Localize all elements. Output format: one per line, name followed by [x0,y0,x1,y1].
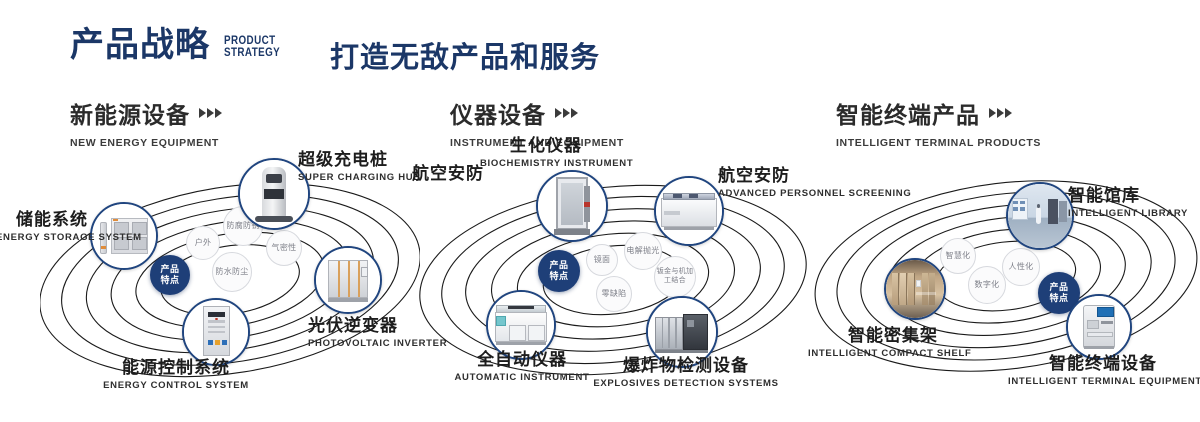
section-title-cn: 智能终端产品 [836,96,980,130]
cluster-instrument: 产品 特点 镜面 电解抛光 钣金与机加工结合 零缺陷 生化仪器 BIOCHEMI… [418,150,808,400]
node-biochemistry-instrument[interactable] [536,170,608,242]
scanner-photo [656,178,722,244]
feature-bubble-airtight: 气密性 [266,230,302,266]
page-title-english: PRODUCT STRATEGY [224,34,280,62]
label-automatic-instrument: 全自动仪器 AUTOMATIC INSTRUMENT [432,350,612,383]
feature-bubble-intelligent: 智慧化 [940,238,976,274]
label-energy-control-system: 能源控制系统 ENERGY CONTROL SYSTEM [86,358,266,391]
node-label-cn: 全自动仪器 [432,350,612,370]
terminal-kiosk-photo [1068,296,1130,358]
node-label-en: EXPLOSIVES DETECTION SYSTEMS [588,378,784,390]
inverter-photo [316,248,380,312]
section-title-new-energy: 新能源设备 NEW ENERGY EQUIPMENT [70,96,222,149]
page-title-english-line2: STRATEGY [224,46,280,59]
node-label-en: INTELLIGENT COMPACT SHELF [808,348,938,360]
core-bubble-product-features: 产品 特点 [538,250,580,292]
node-label-en: INTELLIGENT LIBRARY [1068,208,1198,220]
feature-bubble-outdoor: 户外 [186,226,220,260]
node-label-en: AUTOMATIC INSTRUMENT [432,372,612,384]
node-label-en: INTELLIGENT TERMINAL EQUIPMENT [1008,376,1198,388]
node-label-cn: 储能系统 [0,210,88,230]
section-title-cn: 新能源设备 [70,96,190,130]
core-bubble-line2: 特点 [160,275,179,286]
label-intelligent-compact-shelf: 智能密集架 INTELLIGENT COMPACT SHELF [808,326,938,359]
node-advanced-personnel-screening[interactable] [654,176,724,246]
chevron-right-icon [555,108,578,118]
feature-bubble-zero-defect: 零缺陷 [596,276,632,312]
feature-bubble-waterproof: 防水防尘 [212,252,252,292]
node-label-cn: 智能馆库 [1068,186,1198,206]
node-label-cn: 智能密集架 [808,326,938,346]
page-title: 产品战略 [70,28,210,62]
page-subtitle: 打造无敌产品和服务 [330,34,600,76]
library-room-photo [1008,184,1072,248]
section-title-intelligent-terminal: 智能终端产品 INTELLIGENT TERMINAL PRODUCTS [836,96,1041,149]
node-photovoltaic-inverter[interactable] [314,246,382,314]
feature-bubble-digital: 数字化 [968,266,1006,304]
node-label-cn: 能源控制系统 [86,358,266,378]
feature-bubble-humanized: 人性化 [1002,248,1040,286]
label-biochemistry-instrument: 生化仪器 BIOCHEMISTRY INSTRUMENT [480,136,612,169]
core-bubble-line1: 产品 [1049,282,1068,293]
core-bubble-line1: 产品 [160,264,179,275]
section-title-en: INTELLIGENT TERMINAL PRODUCTS [836,137,1041,149]
node-intelligent-library[interactable] [1006,182,1074,250]
section-title-en: NEW ENERGY EQUIPMENT [70,137,222,149]
label-aviation-security-aside: 航空安防 [396,164,484,184]
label-explosives-detection-systems: 爆炸物检测设备 EXPLOSIVES DETECTION SYSTEMS [588,356,784,389]
node-label-en: ENERGY STORAGE SYSTEM [0,232,88,244]
node-intelligent-compact-shelf[interactable] [884,258,946,320]
feature-bubble-sheetmetal-machining: 钣金与机加工结合 [654,256,696,298]
core-bubble-line2: 特点 [1049,293,1068,304]
product-strategy-infographic: 产品战略 PRODUCT STRATEGY 打造无敌产品和服务 新能源设备 NE… [0,0,1200,422]
chevron-right-icon [989,108,1012,118]
security-gate-photo [538,172,606,240]
feature-bubble-mirror-finish: 镜面 [586,244,618,276]
node-label-en: BIOCHEMISTRY INSTRUMENT [480,158,612,170]
core-bubble-product-features: 产品 特点 [150,255,190,295]
node-label-cn: 智能终端设备 [1008,354,1198,374]
node-label-cn: 爆炸物检测设备 [588,356,784,376]
page-title-english-line1: PRODUCT [224,34,280,47]
label-intelligent-library: 智能馆库 INTELLIGENT LIBRARY [1068,186,1198,219]
compact-shelf-photo [886,260,944,318]
control-cabinet-photo [184,300,248,364]
page-header: 产品战略 PRODUCT STRATEGY [70,28,292,62]
node-energy-control-system[interactable] [182,298,250,366]
cluster-new-energy: 产品 特点 户外 防腐防锈 防水防尘 气密性 储能系统 ENERGY STORA… [40,150,420,400]
section-title-cn: 仪器设备 [450,96,546,130]
chevron-right-icon [199,108,222,118]
aside-label-cn: 航空安防 [396,164,484,184]
core-bubble-line2: 特点 [549,271,568,282]
node-label-cn: 生化仪器 [480,136,612,156]
node-intelligent-terminal-equipment[interactable] [1066,294,1132,360]
cluster-intelligent-terminal: 智慧化 数字化 人性化 产品 特点 智能馆库 INTELLIGENT LIBRA… [812,150,1200,400]
label-intelligent-terminal-equipment: 智能终端设备 INTELLIGENT TERMINAL EQUIPMENT [1008,354,1198,387]
node-label-en: ENERGY CONTROL SYSTEM [86,380,266,392]
label-energy-storage-system: 储能系统 ENERGY STORAGE SYSTEM [0,210,88,243]
core-bubble-line1: 产品 [549,260,568,271]
automatic-instrument-photo [488,292,554,358]
